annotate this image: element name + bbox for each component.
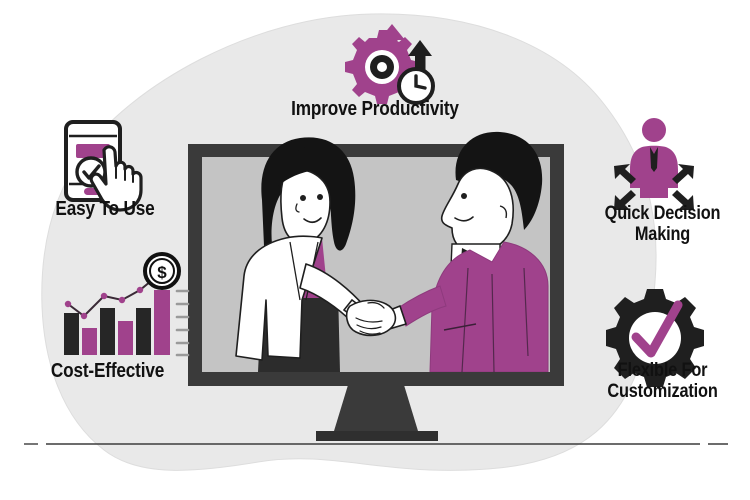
hand-clasp (347, 300, 396, 335)
monitor-handshake-scene (188, 132, 564, 441)
person-head (642, 118, 666, 142)
axis-ticks (177, 291, 188, 355)
man-eye (461, 193, 467, 199)
benefit-label-quick-decision-making: Quick Decision Making (587, 203, 738, 246)
benefit-label-flexible-for-customization: Flexible For Customization (587, 360, 738, 403)
bar-6 (154, 290, 170, 355)
person-four-arrows-icon (614, 118, 694, 210)
handshake-hands (347, 300, 396, 335)
gear-arrows-clock-icon (345, 24, 433, 104)
bar-5 (136, 308, 151, 355)
gear-hub-hole (377, 62, 387, 72)
woman-eye-right (317, 194, 323, 200)
bar-2 (82, 328, 97, 355)
bar-chart-dollar-icon: $ (64, 254, 188, 355)
artwork-layer: $ (0, 0, 750, 500)
monitor-base (316, 431, 438, 441)
woman-eye-left (300, 195, 306, 201)
benefit-label-cost-effective: Cost-Effective (19, 360, 195, 382)
bar-1 (64, 313, 79, 355)
bar-3 (100, 308, 115, 355)
benefit-label-easy-to-use: Easy To Use (19, 198, 191, 220)
smartphone-tap-check-icon (66, 122, 141, 210)
dollar-sign-icon: $ (157, 263, 167, 282)
benefit-label-improve-productivity: Improve Productivity (263, 98, 487, 120)
woman-face (281, 169, 330, 243)
monitor-stand (334, 385, 418, 431)
bar-4 (118, 321, 133, 355)
infographic-canvas: $ Improve Productivity Easy To Use Cost-… (0, 0, 750, 500)
